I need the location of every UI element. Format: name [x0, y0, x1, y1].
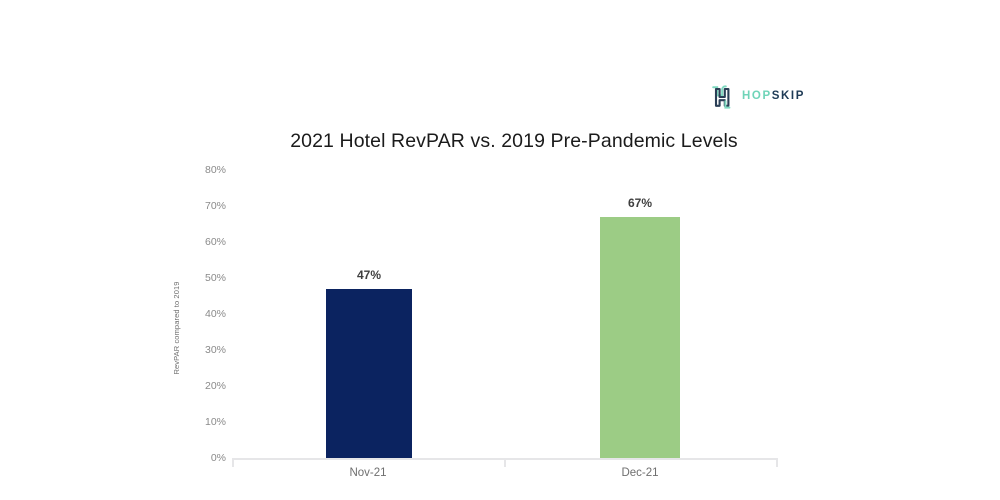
- plot-area: 47% 67%: [232, 170, 778, 458]
- bar-value-label-dec-21: 67%: [600, 197, 680, 209]
- bar-value-label-nov-21: 47%: [326, 269, 412, 281]
- x-axis-tick-right: [776, 458, 778, 467]
- y-tick-60: 60%: [180, 237, 226, 248]
- y-tick-40: 40%: [180, 309, 226, 320]
- y-tick-0: 0%: [180, 453, 226, 464]
- x-category-label-nov-21: Nov-21: [232, 468, 504, 480]
- chart-container: HOPSKIP 2021 Hotel RevPAR vs. 2019 Pre-P…: [0, 0, 1000, 500]
- wordmark-skip: SKIP: [772, 90, 805, 102]
- y-tick-20: 20%: [180, 381, 226, 392]
- y-tick-30: 30%: [180, 345, 226, 356]
- hopskip-logo: HOPSKIP: [710, 84, 805, 110]
- bar-nov-21[interactable]: [326, 289, 412, 458]
- x-axis-tick-mid: [504, 458, 506, 467]
- y-axis-tick-labels: 80% 70% 60% 50% 40% 30% 20% 10% 0%: [186, 170, 226, 458]
- hopskip-wordmark: HOPSKIP: [742, 91, 805, 103]
- y-axis-title: RevPAR compared to 2019: [170, 184, 184, 472]
- chart-title: 2021 Hotel RevPAR vs. 2019 Pre-Pandemic …: [0, 130, 1000, 153]
- x-category-label-dec-21: Dec-21: [504, 468, 776, 480]
- wordmark-hop: HOP: [742, 90, 772, 102]
- y-tick-80: 80%: [180, 165, 226, 176]
- hopskip-h-mark-icon: [710, 85, 733, 110]
- y-tick-70: 70%: [180, 201, 226, 212]
- x-axis-tick-left: [232, 458, 234, 467]
- y-tick-50: 50%: [180, 273, 226, 284]
- y-tick-10: 10%: [180, 417, 226, 428]
- bar-dec-21[interactable]: [600, 217, 680, 458]
